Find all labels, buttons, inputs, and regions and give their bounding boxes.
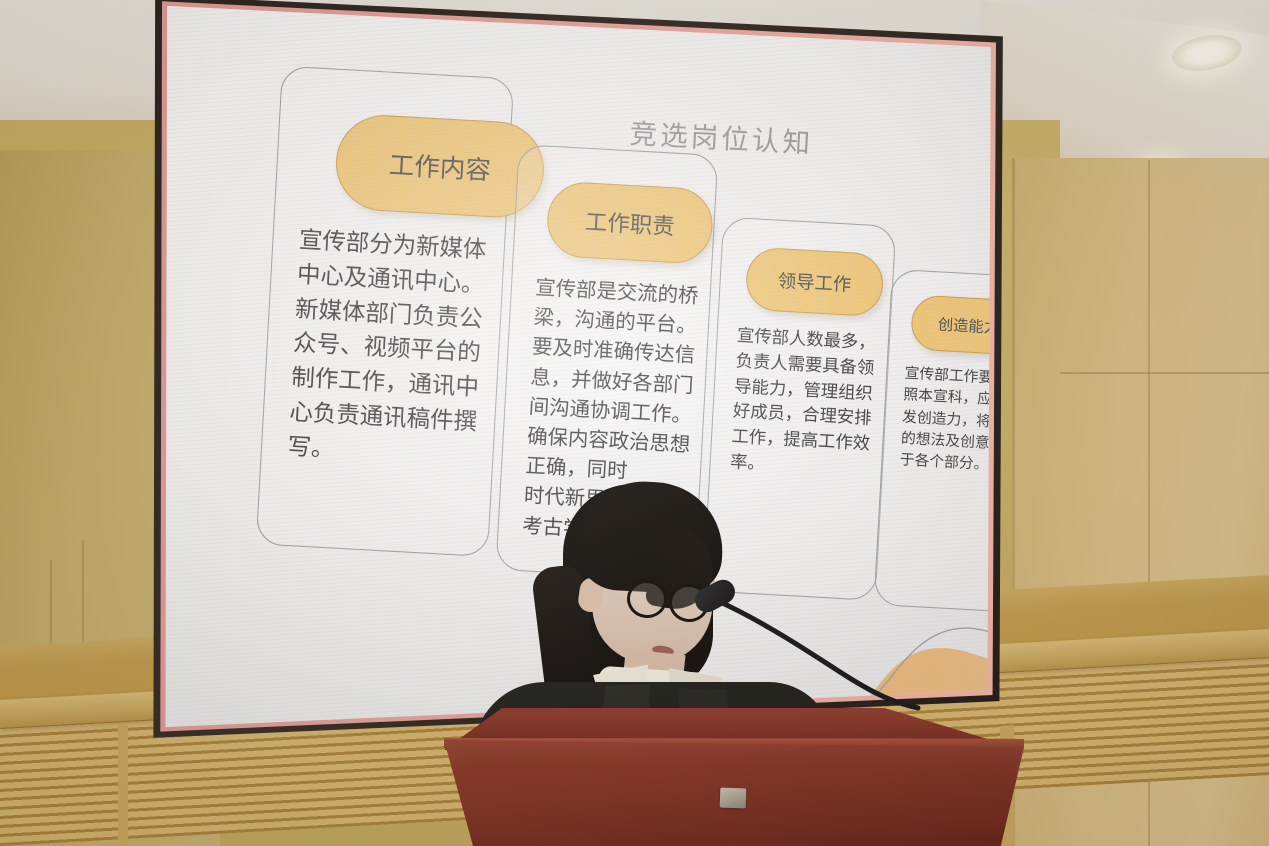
slide-card-3-body: 宣传部人数最多， 负责人需要具备领 导能力，管理组织 好成员，合理安排 工作，提… [729,324,890,484]
podium-nameplate [720,788,747,809]
podium [420,690,1040,846]
slide-card-1-body: 宣传部分为新媒体 中心及通讯中心。 新媒体部门负责公 众号、视频平台的 制作工作… [287,223,504,475]
slide-card-3-heading: 领导工作 [745,247,885,318]
presentation-room-scene: 竞选岗位认知 工作内容 宣传部分为新媒体 中心及通讯中心。 新媒体部门负责公 众… [0,0,1269,846]
wall-panel-seam [1060,372,1269,374]
grille-frame [118,725,128,846]
slide-card-2-heading: 工作职责 [545,180,714,264]
